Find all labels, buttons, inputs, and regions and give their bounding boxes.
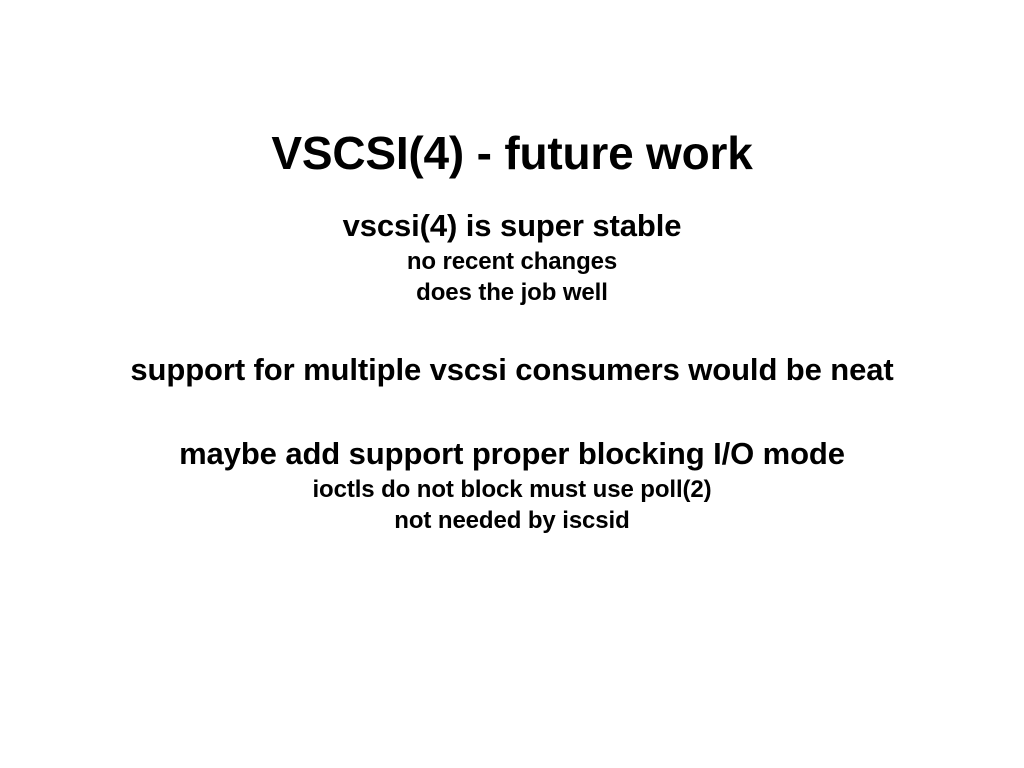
block-heading-stability: vscsi(4) is super stable [0, 206, 1024, 246]
content-block-blocking-io: maybe add support proper blocking I/O mo… [0, 434, 1024, 536]
block-spacer-1 [0, 308, 1024, 350]
slide-body: VSCSI(4) - future work vscsi(4) is super… [0, 0, 1024, 768]
block-spacer-2 [0, 390, 1024, 434]
slide-title: VSCSI(4) - future work [0, 125, 1024, 181]
block-subline-does-the-job-well: does the job well [0, 277, 1024, 308]
block-subline-not-needed-by-iscsid: not needed by iscsid [0, 505, 1024, 536]
slide-content: vscsi(4) is super stable no recent chang… [0, 206, 1024, 536]
block-subline-no-recent-changes: no recent changes [0, 246, 1024, 277]
slide-canvas: VSCSI(4) - future work vscsi(4) is super… [0, 0, 1024, 768]
content-block-stability: vscsi(4) is super stable no recent chang… [0, 206, 1024, 308]
block-heading-blocking-io: maybe add support proper blocking I/O mo… [0, 434, 1024, 474]
block-heading-multiple-consumers: support for multiple vscsi consumers wou… [0, 350, 1024, 390]
content-block-multiple-consumers: support for multiple vscsi consumers wou… [0, 350, 1024, 390]
block-subline-ioctls-do-not-block: ioctls do not block must use poll(2) [0, 474, 1024, 505]
